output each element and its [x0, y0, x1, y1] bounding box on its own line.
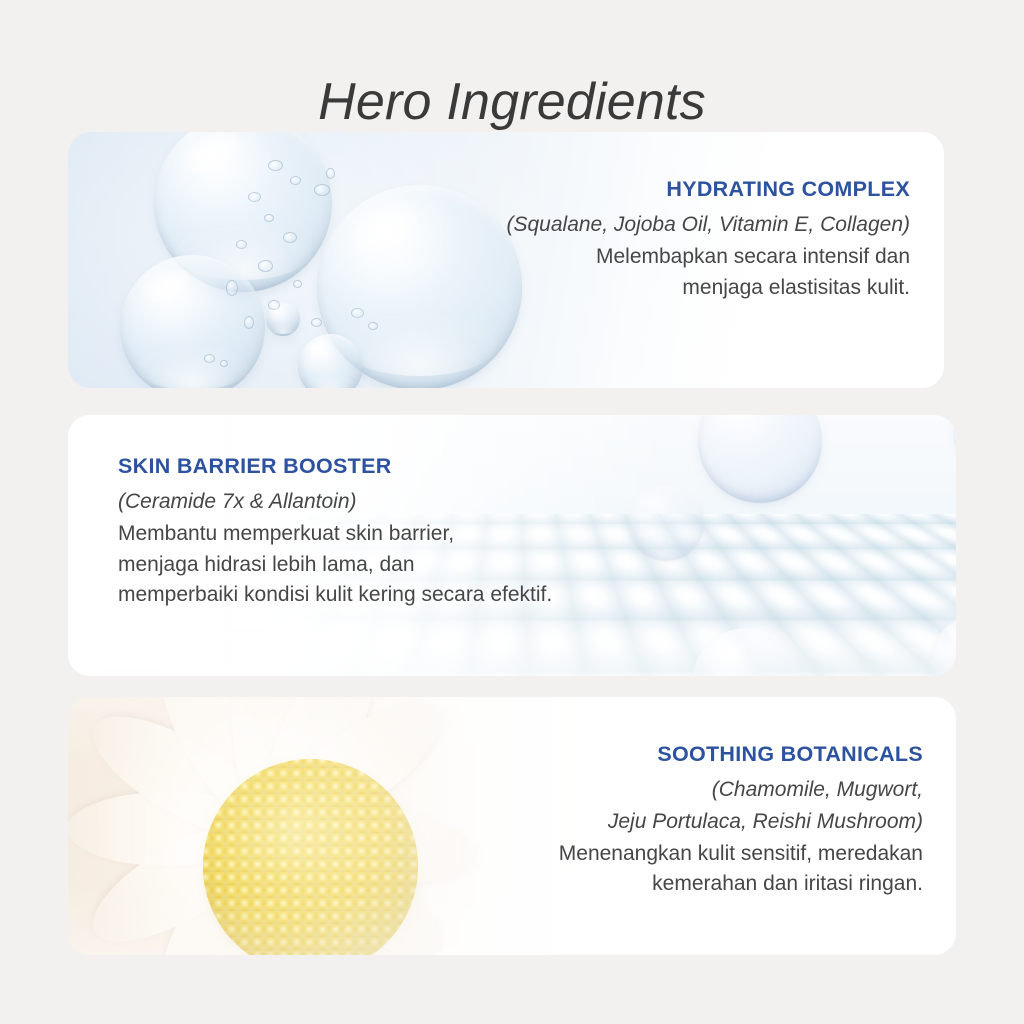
card-kicker-botanical: SOOTHING BOTANICALS [363, 741, 923, 768]
micro-bubble-icon [293, 280, 302, 288]
card-inci-barrier: (Ceramide 7x & Allantoin) [118, 487, 718, 517]
micro-bubble-icon [258, 260, 273, 272]
card-description-line: Menenangkan kulit sensitif, meredakan [363, 839, 923, 870]
card-copy-hydrating: HYDRATING COMPLEX (Squalane, Jojoba Oil,… [370, 176, 910, 303]
card-kicker-hydrating: HYDRATING COMPLEX [370, 176, 910, 203]
card-description-line: kemerahan dan iritasi ringan. [363, 869, 923, 900]
micro-bubble-icon [204, 354, 215, 363]
micro-bubble-icon [236, 240, 247, 249]
card-description-line: Membantu memperkuat skin barrier, [118, 519, 718, 550]
card-description-line: menjaga elastisitas kulit. [370, 273, 910, 304]
micro-bubble-icon [226, 280, 238, 296]
card-inci-line: Jeju Portulaca, Reishi Mushroom) [363, 807, 923, 837]
micro-bubble-icon [311, 318, 322, 327]
micro-bubble-icon [368, 322, 378, 330]
card-copy-botanical: SOOTHING BOTANICALS (Chamomile, Mugwort,… [363, 741, 923, 900]
ingredient-card-botanical: SOOTHING BOTANICALS (Chamomile, Mugwort,… [68, 697, 956, 955]
page-title: Hero Ingredients [0, 73, 1024, 133]
card-description-line: menjaga hidrasi lebih lama, dan [118, 550, 718, 581]
micro-bubble-icon [268, 300, 280, 310]
ingredient-card-barrier: SKIN BARRIER BOOSTER (Ceramide 7x & Alla… [68, 415, 956, 676]
micro-bubble-icon [290, 176, 301, 185]
card-kicker-barrier: SKIN BARRIER BOOSTER [118, 453, 718, 480]
micro-bubble-icon [326, 168, 335, 179]
micro-bubble-icon [351, 308, 364, 318]
card-inci-hydrating: (Squalane, Jojoba Oil, Vitamin E, Collag… [370, 210, 910, 240]
micro-bubble-icon [268, 160, 283, 171]
hero-ingredients-poster: Hero Ingredients [0, 0, 1024, 1024]
micro-bubble-icon [244, 316, 254, 329]
card-description-line: Melembapkan secara intensif dan [370, 242, 910, 273]
micro-bubble-icon [248, 192, 261, 202]
ingredient-card-hydrating: HYDRATING COMPLEX (Squalane, Jojoba Oil,… [68, 132, 944, 388]
micro-bubble-icon [220, 360, 228, 367]
lattice-bottom-fade [68, 608, 956, 676]
card-description-line: memperbaiki kondisi kulit kering secara … [118, 580, 718, 611]
micro-bubble-icon [314, 184, 330, 196]
card-copy-barrier: SKIN BARRIER BOOSTER (Ceramide 7x & Alla… [118, 453, 718, 611]
micro-bubble-icon [264, 214, 274, 222]
micro-bubble-icon [283, 232, 297, 243]
card-inci-line: (Chamomile, Mugwort, [363, 775, 923, 805]
